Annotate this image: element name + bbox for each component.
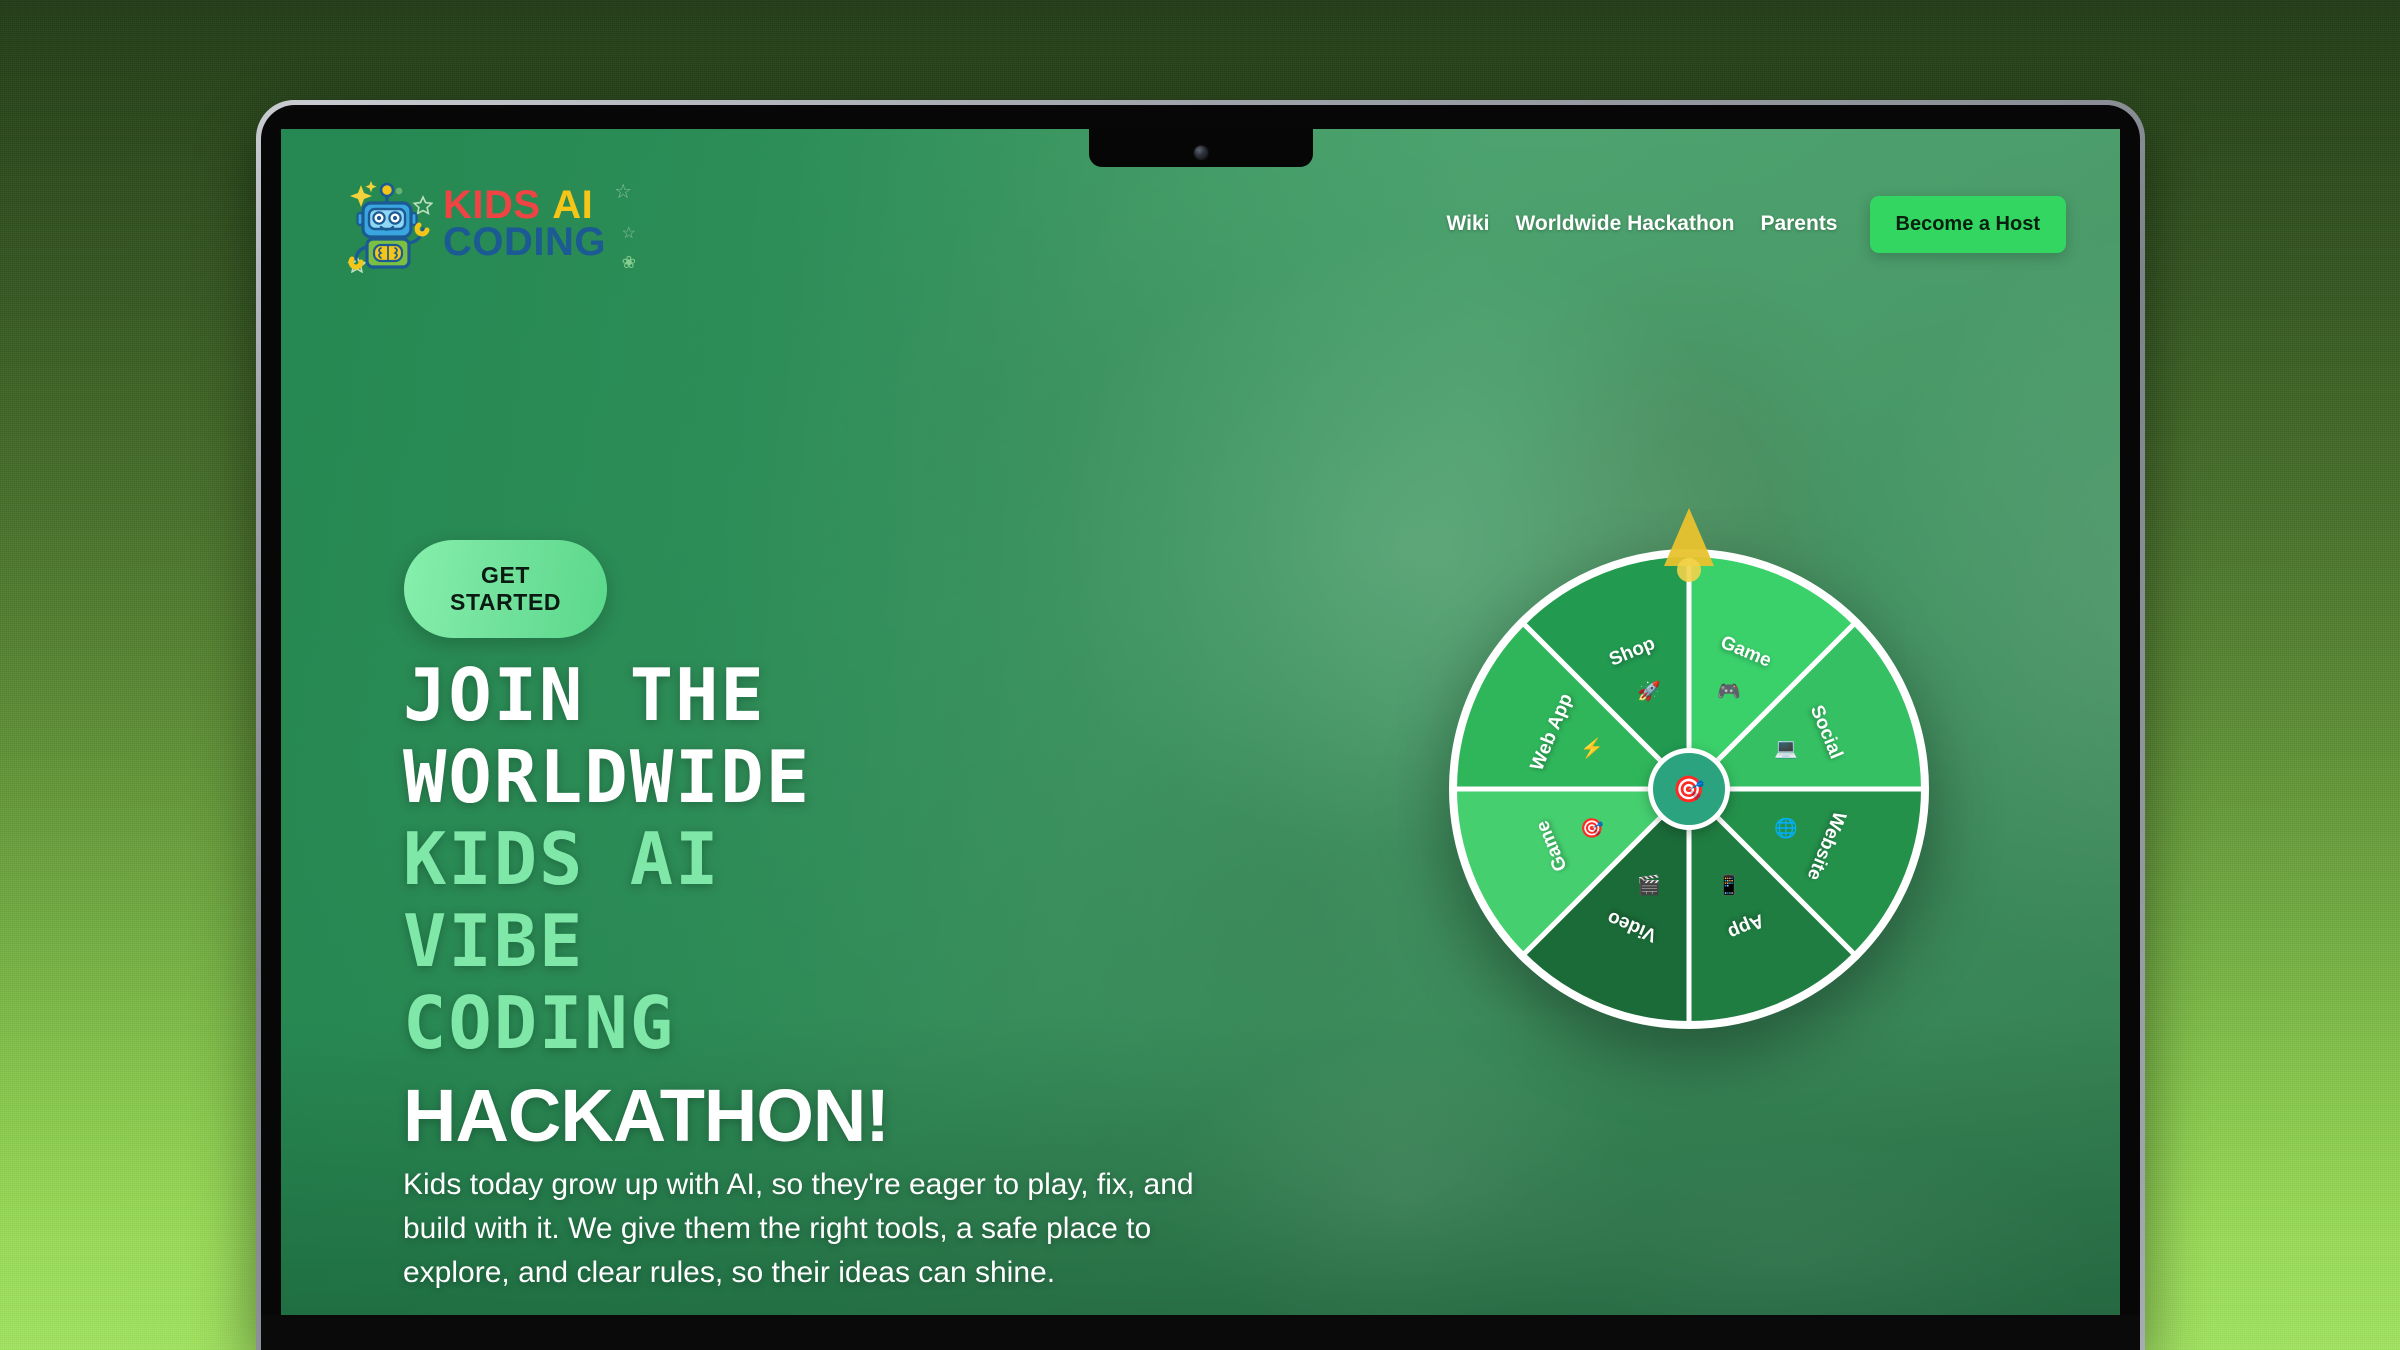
logo-wordmark: KIDS AI CODING ☆ ☆ ❀: [443, 187, 606, 261]
nav-link-worldwide-hackathon[interactable]: Worldwide Hackathon: [1515, 212, 1734, 236]
laptop-notch: [1089, 129, 1313, 167]
spinner-wheel[interactable]: Game🎮Social💻Website🌐App📱Video🎬Game🎯Web A…: [1439, 504, 1939, 1034]
site-logo[interactable]: KIDS AI CODING ☆ ☆ ❀: [341, 175, 606, 273]
camera-icon: [1194, 146, 1207, 159]
wheel-center-hub[interactable]: 🎯: [1648, 748, 1730, 830]
star-outline-icon: ☆: [614, 183, 632, 202]
laptop-body: KIDS AI CODING ☆ ☆ ❀ Wiki Worldwide Hack…: [256, 100, 2145, 1350]
triangle-pointer-icon: [1659, 504, 1719, 582]
laptop-chin: [261, 1315, 2140, 1350]
headline-line-2: WORLDWIDE: [403, 736, 889, 818]
headline-line-1: JOIN THE: [403, 654, 889, 736]
wheel-disc[interactable]: Game🎮Social💻Website🌐App📱Video🎬Game🎯Web A…: [1449, 549, 1929, 1029]
logo-coding-text: CODING: [443, 224, 606, 261]
main-navigation: Wiki Worldwide Hackathon Parents Become …: [1446, 196, 2066, 253]
leaf-icon: ❀: [622, 255, 636, 271]
page-title: JOIN THE WORLDWIDE KIDS AI VIBE CODING H…: [403, 654, 889, 1159]
nav-link-wiki[interactable]: Wiki: [1446, 212, 1489, 236]
headline-line-3: KIDS AI VIBE: [403, 818, 889, 982]
robot-icon: [341, 175, 433, 273]
hero-description: Kids today grow up with AI, so they're e…: [403, 1163, 1203, 1294]
get-started-button[interactable]: GET STARTED: [404, 540, 607, 638]
laptop-mockup: KIDS AI CODING ☆ ☆ ❀ Wiki Worldwide Hack…: [256, 100, 2145, 1350]
star-outline-icon: ☆: [622, 227, 636, 242]
nav-link-parents[interactable]: Parents: [1760, 212, 1837, 236]
laptop-bezel: KIDS AI CODING ☆ ☆ ❀ Wiki Worldwide Hack…: [261, 105, 2140, 1350]
laptop-screen: KIDS AI CODING ☆ ☆ ❀ Wiki Worldwide Hack…: [281, 129, 2120, 1315]
become-a-host-button[interactable]: Become a Host: [1870, 196, 2067, 253]
headline-line-4: CODING: [403, 982, 889, 1064]
headline-line-5: HACKATHON!: [403, 1074, 889, 1158]
